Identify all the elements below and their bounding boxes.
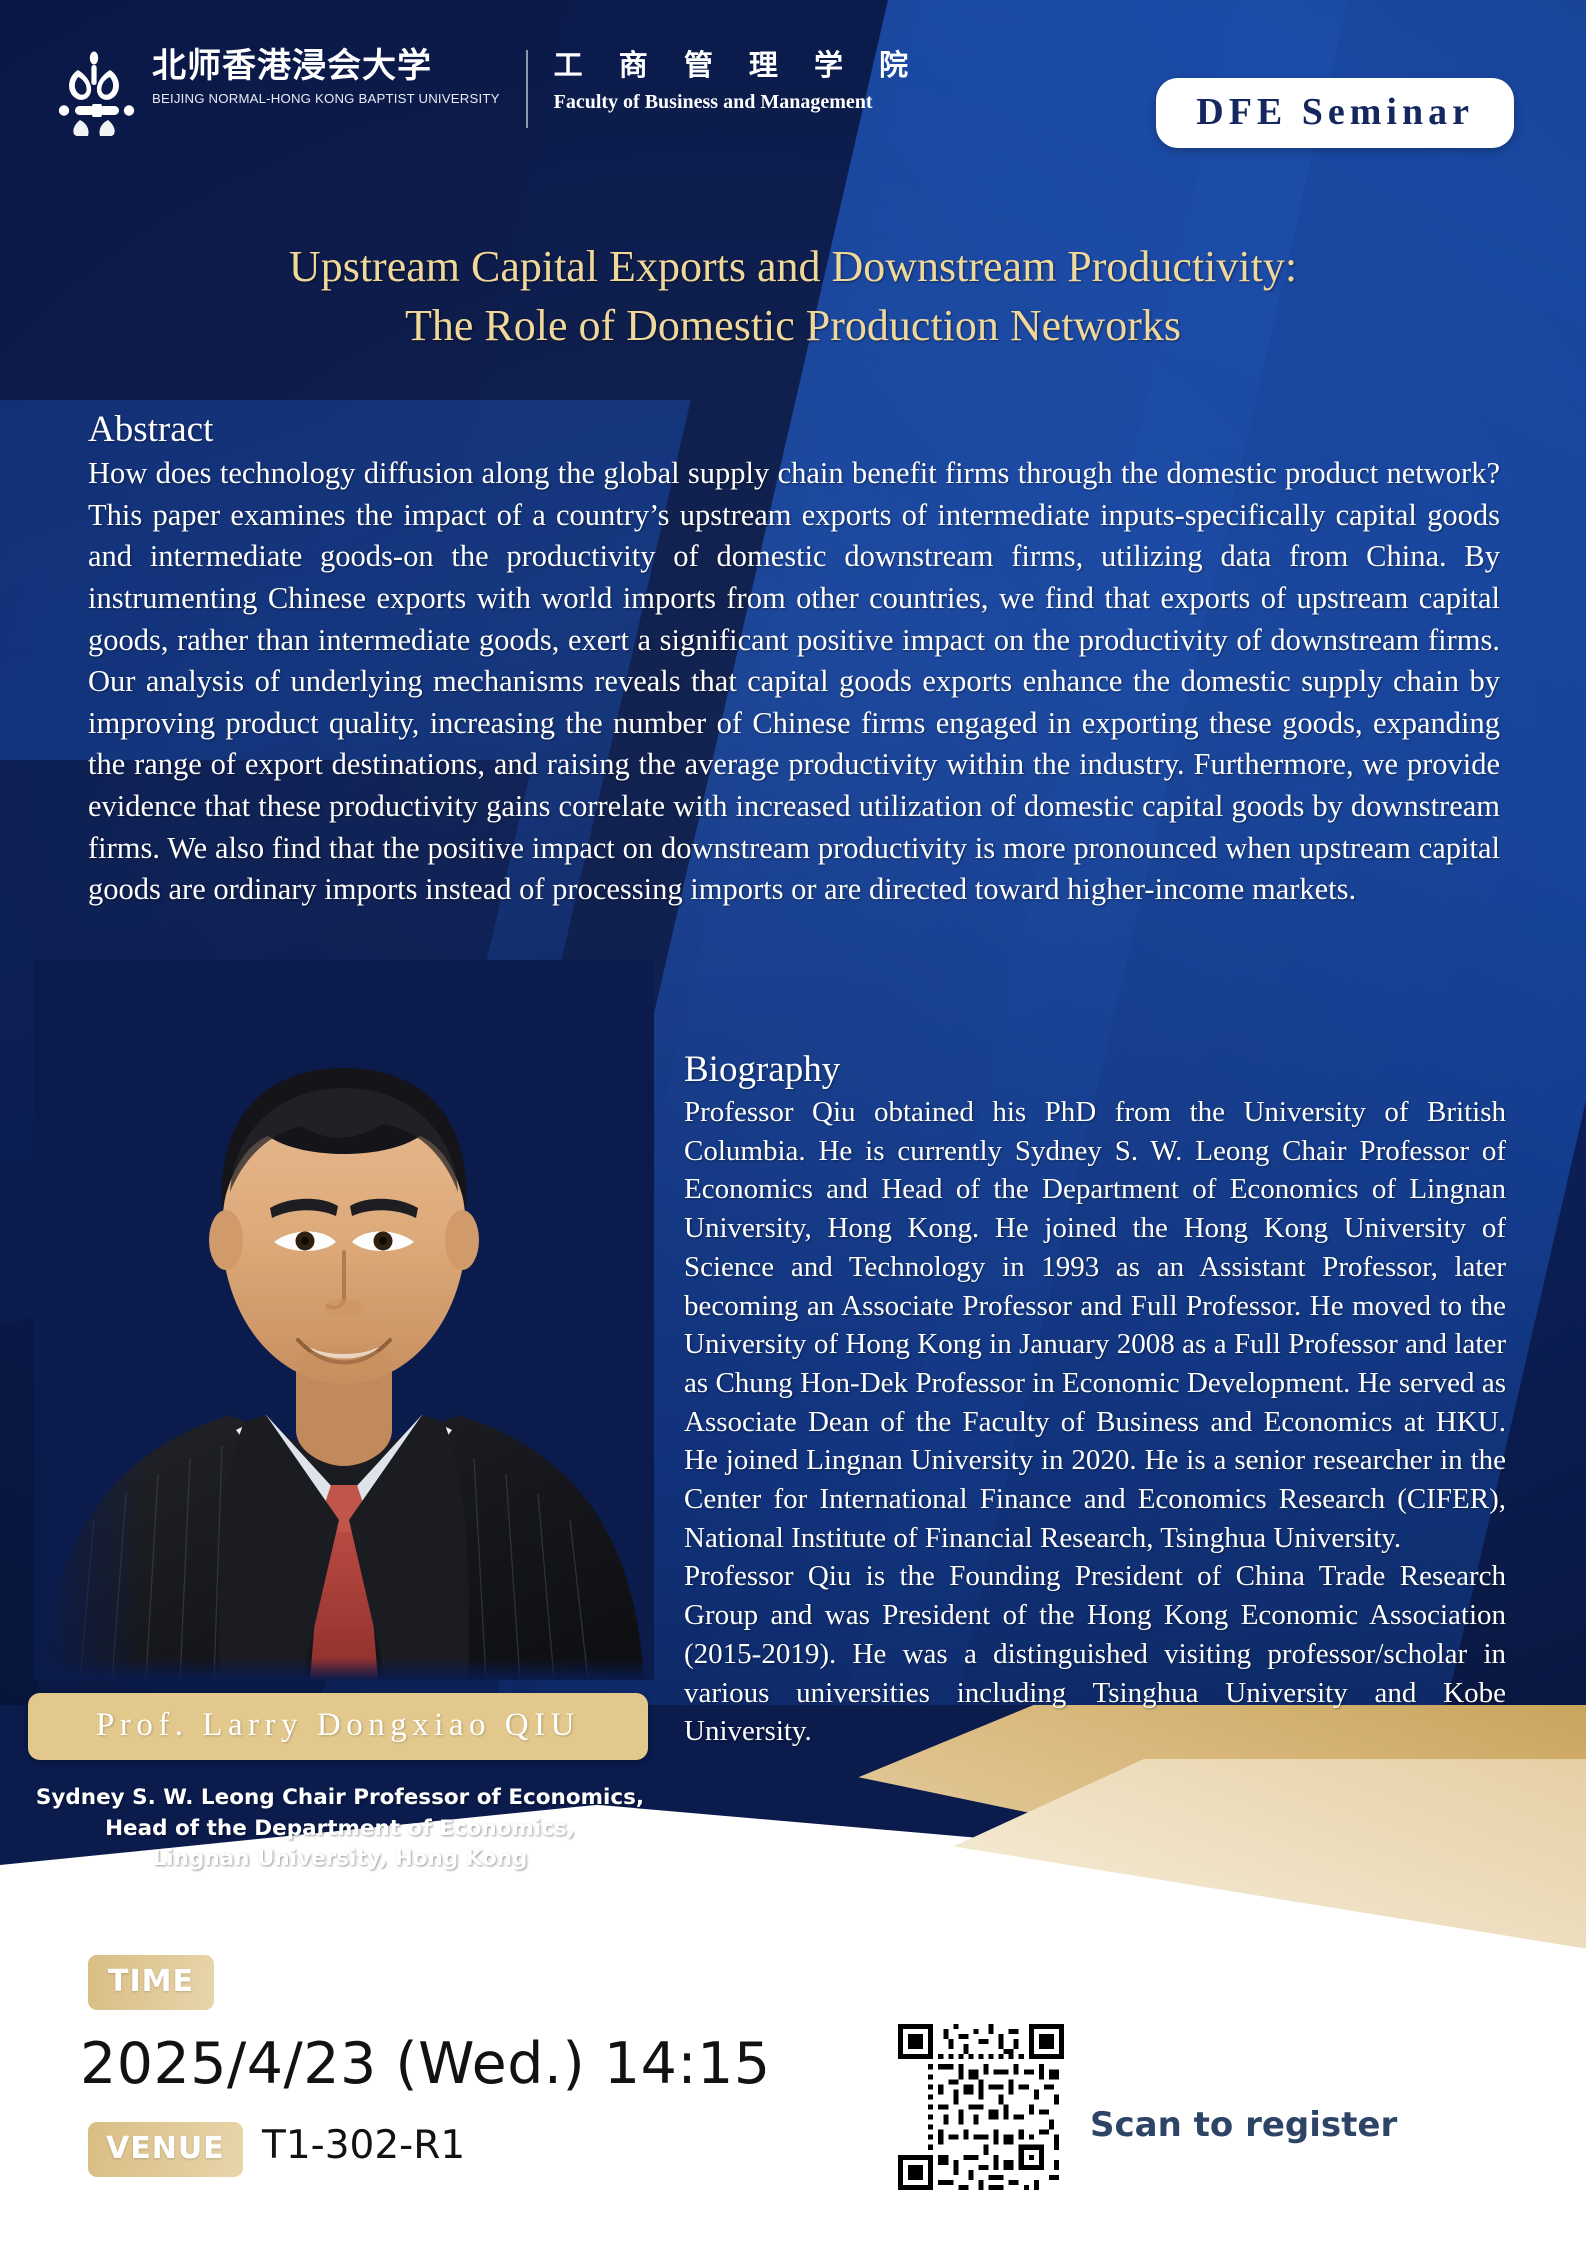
page-title-line-1: Upstream Capital Exports and Downstream …: [70, 238, 1516, 297]
speaker-name: Prof. Larry Dongxiao QIU: [96, 1707, 580, 1743]
dfe-seminar-badge-label: DFE Seminar: [1196, 91, 1474, 133]
abstract-section: Abstract How does technology diffusion a…: [88, 408, 1500, 911]
faculty-name-en: Faculty of Business and Management: [554, 91, 921, 114]
university-crest-icon: 2005: [48, 50, 140, 136]
speaker-affiliation: Sydney S. W. Leong Chair Professor of Ec…: [10, 1783, 670, 1875]
venue-label-badge: VENUE: [88, 2122, 243, 2177]
header-divider: [526, 50, 528, 128]
speaker-affiliation-line-2: Head of the Department of Economics,: [10, 1814, 670, 1845]
page-title: Upstream Capital Exports and Downstream …: [0, 238, 1586, 356]
university-name-block: 北师香港浸会大学 BEIJING NORMAL-HONG KONG BAPTIS…: [152, 48, 500, 106]
faculty-name-cn: 工 商 管 理 学 院: [554, 50, 921, 82]
brand-header: 2005 北师香港浸会大学 BEIJING NORMAL-HONG KONG B…: [48, 48, 921, 136]
page-title-line-2: The Role of Domestic Production Networks: [70, 297, 1516, 356]
biography-body: Professor Qiu obtained his PhD from the …: [684, 1093, 1506, 1751]
faculty-name-block: 工 商 管 理 学 院 Faculty of Business and Mana…: [554, 48, 921, 114]
qr-code-registration[interactable]: [898, 2024, 1064, 2190]
dfe-seminar-badge: DFE Seminar: [1156, 78, 1514, 148]
biography-paragraph-1: Professor Qiu obtained his PhD from the …: [684, 1093, 1506, 1557]
abstract-heading: Abstract: [88, 408, 1500, 451]
time-label-badge: TIME: [88, 1955, 214, 2010]
abstract-body: How does technology diffusion along the …: [88, 453, 1500, 911]
time-label: TIME: [108, 1964, 194, 1999]
speaker-affiliation-line-3: Lingnan University, Hong Kong: [10, 1844, 670, 1875]
venue-value: T1-302-R1: [262, 2123, 465, 2168]
biography-paragraph-2: Professor Qiu is the Founding President …: [684, 1557, 1506, 1751]
scan-to-register-label: Scan to register: [1090, 2105, 1397, 2145]
biography-heading: Biography: [684, 1048, 1506, 1091]
speaker-photo: [34, 960, 654, 1680]
speaker-name-bar: Prof. Larry Dongxiao QIU: [28, 1693, 648, 1760]
time-value: 2025/4/23 (Wed.) 14:15: [80, 2031, 771, 2097]
svg-text:2005: 2005: [85, 107, 103, 116]
biography-section: Biography Professor Qiu obtained his PhD…: [684, 1048, 1506, 1751]
seminar-poster: 2005 北师香港浸会大学 BEIJING NORMAL-HONG KONG B…: [0, 0, 1586, 2245]
speaker-affiliation-line-1: Sydney S. W. Leong Chair Professor of Ec…: [10, 1783, 670, 1814]
university-name-cn: 北师香港浸会大学: [152, 48, 500, 84]
university-name-en: BEIJING NORMAL-HONG KONG BAPTIST UNIVERS…: [152, 91, 500, 106]
venue-label: VENUE: [106, 2131, 225, 2166]
